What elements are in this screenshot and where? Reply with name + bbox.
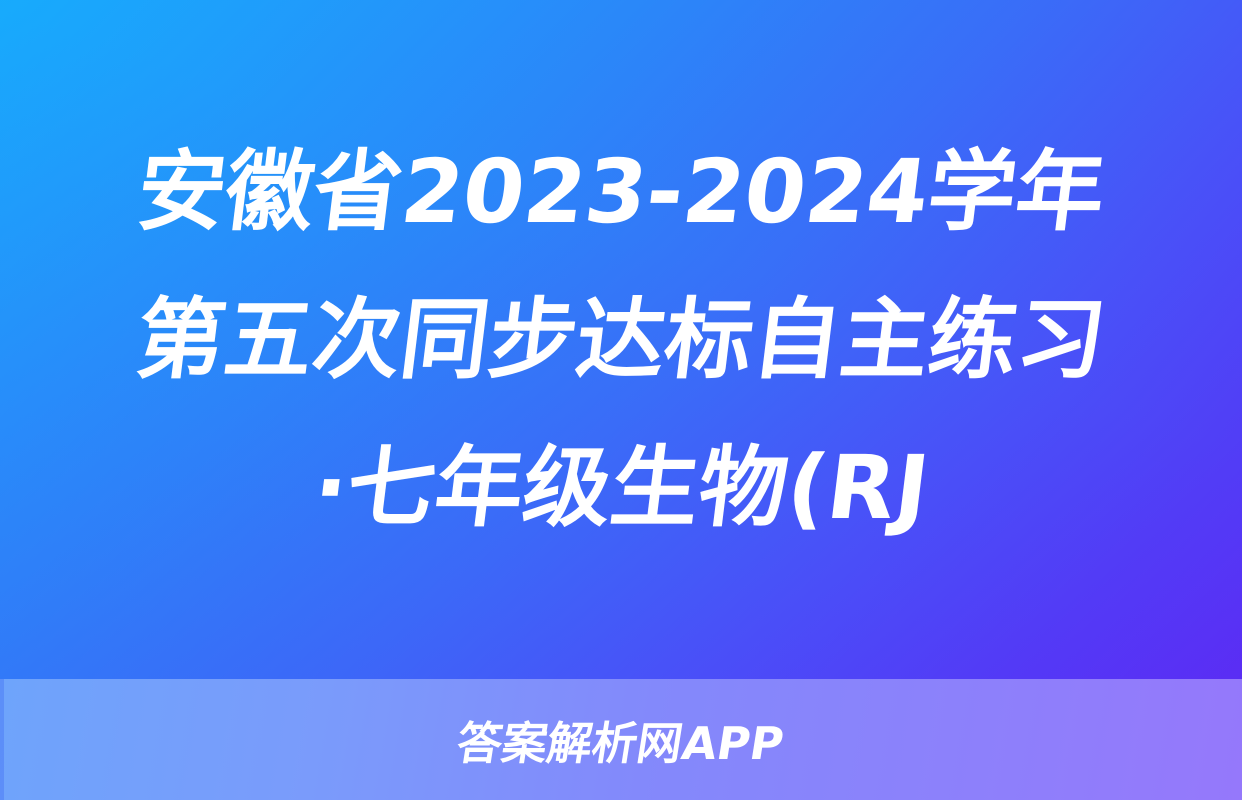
title-line-1: 安徽省2023-2024学年 bbox=[129, 118, 1114, 266]
title-block: 安徽省2023-2024学年 第五次同步达标自主练习 ·七年级生物(RJ bbox=[0, 0, 1242, 679]
footer-band: 答案解析网APP bbox=[0, 679, 1242, 800]
title-line-2: 第五次同步达标自主练习 bbox=[128, 266, 1114, 414]
title-line-3: ·七年级生物(RJ bbox=[305, 414, 937, 562]
app-watermark-label: 答案解析网APP bbox=[453, 707, 789, 772]
cover-image: 安徽省2023-2024学年 第五次同步达标自主练习 ·七年级生物(RJ 答案解… bbox=[0, 0, 1242, 800]
